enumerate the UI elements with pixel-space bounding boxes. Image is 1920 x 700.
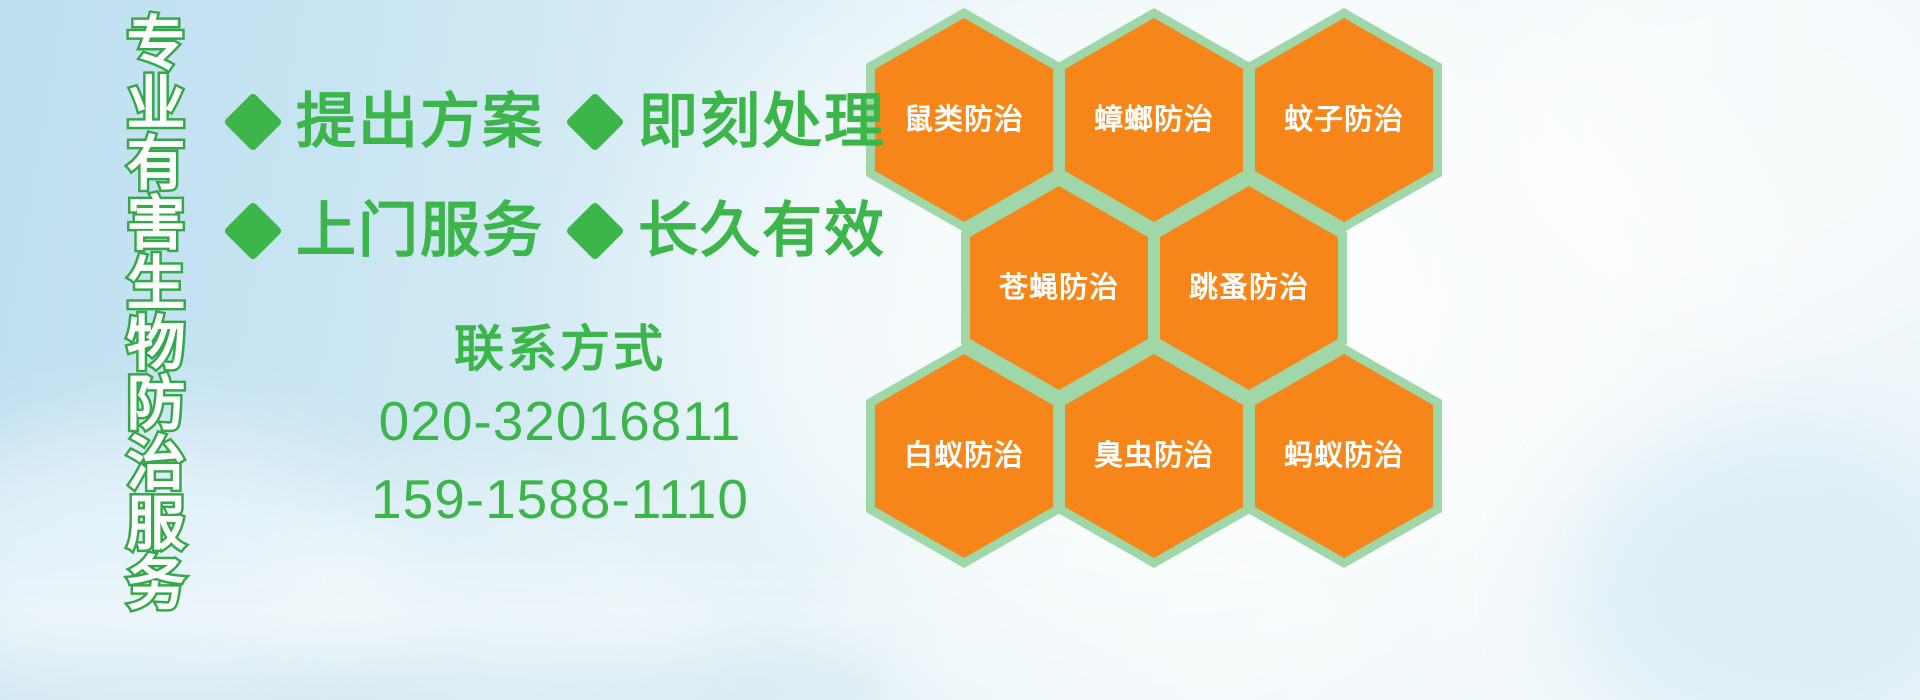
hexagon-inner: 苍蝇防治	[970, 186, 1148, 390]
vertical-slogan-char: 专	[126, 14, 185, 74]
feature-item-long-lasting: 长久有效	[574, 196, 886, 266]
background-blur-blob	[1480, 0, 1920, 340]
feature-item-propose-plan: 提出方案	[232, 87, 544, 157]
feature-item-onsite-service: 上门服务	[232, 196, 544, 266]
contact-block: 联系方式 020-32016811 159-1588-1110	[300, 316, 820, 538]
vertical-slogan-char: 生	[126, 254, 185, 314]
vertical-slogan-char: 务	[126, 554, 185, 614]
diamond-icon	[565, 201, 624, 260]
hexagon-label: 苍蝇防治	[999, 271, 1119, 305]
hexagon-label: 臭虫防治	[1094, 439, 1214, 473]
hexagon-inner: 蚂蚁防治	[1255, 354, 1433, 558]
vertical-slogan: 专 业 有 害 生 物 防 治 服 务	[108, 14, 204, 554]
feature-label: 上门服务	[296, 196, 544, 266]
feature-item-immediate-treatment: 即刻处理	[574, 87, 886, 157]
vertical-slogan-char: 物	[126, 314, 185, 374]
hexagon-label: 蚊子防治	[1284, 103, 1404, 137]
hexagon-inner: 跳蚤防治	[1160, 186, 1338, 390]
hexagon-label: 蚂蚁防治	[1284, 439, 1404, 473]
hexagon-label: 跳蚤防治	[1189, 271, 1309, 305]
diamond-icon	[223, 201, 282, 260]
diamond-icon	[565, 92, 624, 151]
feature-label: 即刻处理	[638, 87, 886, 157]
vertical-slogan-char: 业	[126, 74, 185, 134]
feature-row-1: 提出方案 即刻处理	[232, 87, 886, 157]
service-honeycomb: 鼠类防治 蟑螂防治 蚊子防治 苍蝇防治 跳蚤防治 白蚁防治	[860, 0, 1460, 560]
hexagon-inner: 蟑螂防治	[1065, 18, 1243, 222]
background-blur-blob	[1560, 420, 1920, 700]
phone-number-landline[interactable]: 020-32016811	[300, 382, 820, 460]
hexagon-label: 白蚁防治	[904, 439, 1024, 473]
hexagon-inner: 臭虫防治	[1065, 354, 1243, 558]
contact-title: 联系方式	[300, 316, 820, 382]
hexagon-inner: 鼠类防治	[875, 18, 1053, 222]
feature-row-2: 上门服务 长久有效	[232, 196, 886, 266]
vertical-slogan-char: 服	[126, 494, 185, 554]
feature-label: 提出方案	[296, 87, 544, 157]
vertical-slogan-char: 害	[126, 194, 185, 254]
vertical-slogan-char: 有	[126, 134, 185, 194]
hexagon-inner: 白蚁防治	[875, 354, 1053, 558]
feature-label: 长久有效	[638, 196, 886, 266]
diamond-icon	[223, 92, 282, 151]
vertical-slogan-char: 治	[126, 434, 185, 494]
phone-number-mobile[interactable]: 159-1588-1110	[300, 460, 820, 538]
vertical-slogan-char: 防	[126, 374, 185, 434]
pest-control-banner: 专 业 有 害 生 物 防 治 服 务 提出方案 即刻处理 上门服务 长久有效	[0, 0, 1920, 700]
hexagon-label: 鼠类防治	[904, 103, 1024, 137]
hexagon-label: 蟑螂防治	[1094, 103, 1214, 137]
hexagon-inner: 蚊子防治	[1255, 18, 1433, 222]
